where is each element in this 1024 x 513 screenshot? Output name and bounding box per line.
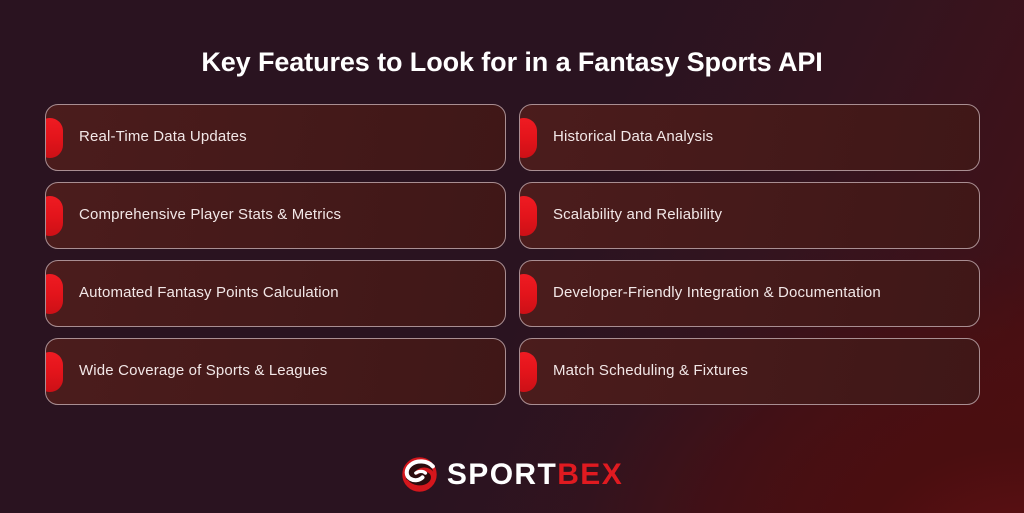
feature-card-label: Wide Coverage of Sports & Leagues — [79, 362, 343, 381]
red-pill-marker-icon — [45, 118, 63, 158]
feature-card-label: Historical Data Analysis — [553, 128, 729, 147]
infographic-canvas: Key Features to Look for in a Fantasy Sp… — [0, 0, 1024, 513]
page-title: Key Features to Look for in a Fantasy Sp… — [201, 46, 822, 78]
logo-wordmark-accent: BEX — [557, 458, 623, 491]
feature-card[interactable]: Wide Coverage of Sports & Leagues — [45, 338, 506, 405]
red-pill-marker-icon — [519, 352, 537, 392]
feature-card-label: Automated Fantasy Points Calculation — [79, 284, 355, 303]
red-pill-marker-icon — [45, 274, 63, 314]
feature-card-label: Comprehensive Player Stats & Metrics — [79, 206, 357, 225]
feature-card-label: Real-Time Data Updates — [79, 128, 263, 147]
features-grid: Real-Time Data Updates Historical Data A… — [45, 104, 975, 405]
red-pill-marker-icon — [519, 274, 537, 314]
feature-card[interactable]: Developer-Friendly Integration & Documen… — [519, 260, 980, 327]
feature-card-label: Match Scheduling & Fixtures — [553, 362, 764, 381]
feature-card-label: Scalability and Reliability — [553, 206, 738, 225]
logo-wordmark: SPORTBEX — [447, 460, 623, 490]
sportbex-swirl-logo-icon — [401, 456, 438, 493]
red-pill-marker-icon — [519, 196, 537, 236]
feature-card[interactable]: Comprehensive Player Stats & Metrics — [45, 182, 506, 249]
feature-card[interactable]: Real-Time Data Updates — [45, 104, 506, 171]
feature-card[interactable]: Historical Data Analysis — [519, 104, 980, 171]
logo-wordmark-primary: SPORT — [447, 458, 557, 491]
page-title-container: Key Features to Look for in a Fantasy Sp… — [0, 28, 1024, 97]
brand-logo: SPORTBEX — [0, 456, 1024, 493]
red-pill-marker-icon — [519, 118, 537, 158]
red-pill-marker-icon — [45, 352, 63, 392]
red-pill-marker-icon — [45, 196, 63, 236]
feature-card-label: Developer-Friendly Integration & Documen… — [553, 284, 897, 303]
feature-card[interactable]: Scalability and Reliability — [519, 182, 980, 249]
feature-card[interactable]: Match Scheduling & Fixtures — [519, 338, 980, 405]
feature-card[interactable]: Automated Fantasy Points Calculation — [45, 260, 506, 327]
